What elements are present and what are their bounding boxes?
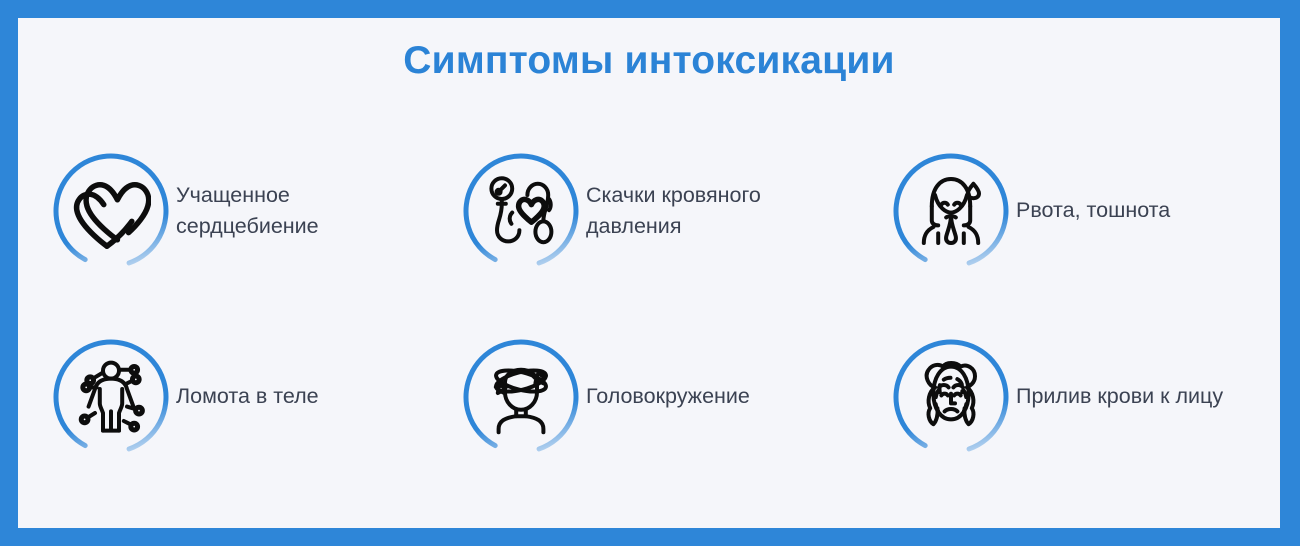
- symptom-item-body-aches: Ломота в теле: [52, 304, 462, 490]
- icon-badge: [462, 338, 580, 456]
- symptom-label: Скачки кровяного давления: [586, 180, 761, 242]
- symptom-item-facial-flushing: Прилив крови к лицу: [892, 304, 1248, 490]
- icon-badge: [462, 152, 580, 270]
- icon-badge: [892, 338, 1010, 456]
- symptom-label-line1: Рвота, тошнота: [1016, 198, 1170, 222]
- symptom-item-heartbeat: Учащенное сердцебиение: [52, 118, 462, 304]
- blood-pressure-monitor-icon: [481, 171, 561, 251]
- symptom-item-dizziness: Головокружение: [462, 304, 892, 490]
- symptom-label-line2: сердцебиение: [176, 214, 319, 238]
- symptom-label-line1: Учащенное: [176, 183, 290, 207]
- symptom-label: Ломота в теле: [176, 381, 319, 412]
- symptom-label: Прилив крови к лицу: [1016, 381, 1223, 412]
- flushed-face-icon: [911, 357, 991, 437]
- symptom-label: Учащенное сердцебиение: [176, 180, 319, 242]
- icon-badge: [52, 152, 170, 270]
- symptom-label-line1: Прилив крови к лицу: [1016, 384, 1223, 408]
- symptom-label-line2: давления: [586, 214, 681, 238]
- nausea-person-icon: [911, 171, 991, 251]
- symptom-label-line1: Скачки кровяного: [586, 183, 761, 207]
- symptom-label-line1: Головокружение: [586, 384, 750, 408]
- icon-badge: [52, 338, 170, 456]
- symptom-item-blood-pressure: Скачки кровяного давления: [462, 118, 892, 304]
- symptoms-grid: Учащенное сердцебиение: [52, 118, 1248, 490]
- page-title: Симптомы интоксикации: [18, 40, 1280, 83]
- infographic-poster: Симптомы интоксикации: [0, 0, 1300, 546]
- double-heart-icon: [71, 171, 151, 251]
- icon-badge: [892, 152, 1010, 270]
- body-aches-icon: [71, 357, 151, 437]
- symptom-item-nausea: Рвота, тошнота: [892, 118, 1248, 304]
- poster-content-area: Симптомы интоксикации: [18, 18, 1280, 528]
- dizziness-head-icon: [481, 357, 561, 437]
- symptom-label-line1: Ломота в теле: [176, 384, 319, 408]
- symptom-label: Рвота, тошнота: [1016, 195, 1170, 226]
- symptom-label: Головокружение: [586, 381, 750, 412]
